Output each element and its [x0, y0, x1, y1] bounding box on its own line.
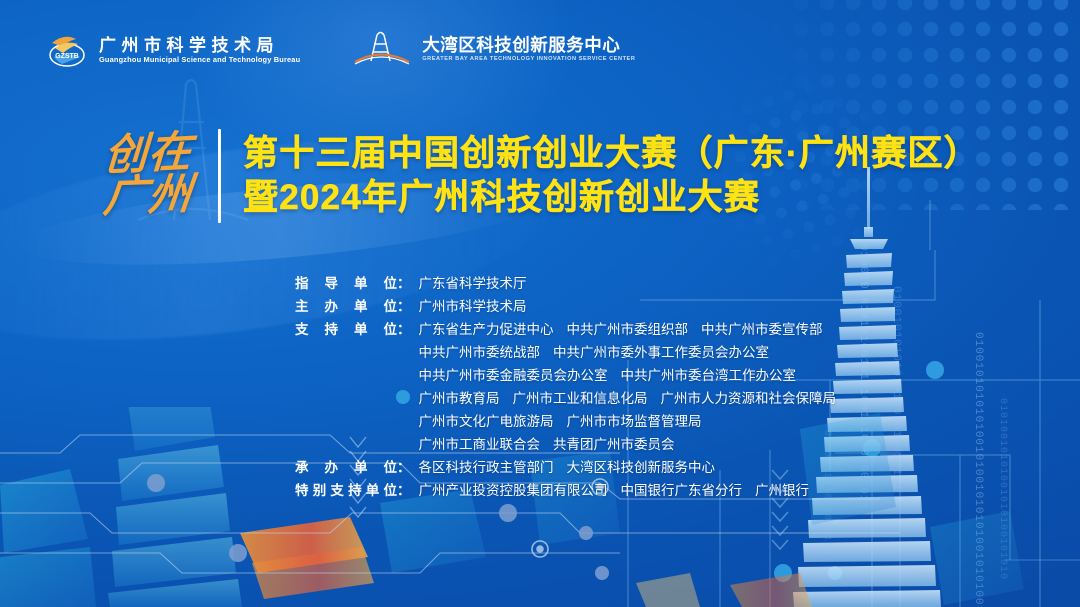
credit-row: 主办单位：广州市科学技术局 — [295, 295, 836, 318]
credit-org: 广州市科学技术局 — [419, 299, 527, 314]
binary-string-4: 01010010101001010100101010 — [997, 398, 1008, 580]
credit-values: 广东省生产力促进中心中共广州市委组织部中共广州市委宣传部中共广州市委统战部中共广… — [419, 318, 837, 456]
gzst-bureau-emblem-icon: GZSTB — [46, 31, 88, 69]
credit-colon: ： — [397, 295, 411, 318]
binary-string-3: 0100101010101001010010101010010101001010 — [972, 332, 984, 607]
credit-org: 广州产业投资控股集团有限公司 — [419, 483, 608, 498]
credit-value-line: 广州市文化广电旅游局广州市市场监督管理局 — [419, 410, 837, 433]
credit-colon: ： — [397, 272, 411, 295]
title-block: 创在 广州 第十三届中国创新创业大赛（广东·广州赛区） 暨2024年广州科技创新… — [96, 118, 980, 234]
credit-value-line: 广州市科学技术局 — [419, 295, 527, 318]
credit-value-line: 各区科技行政主管部门大湾区科技创新服务中心 — [419, 456, 716, 479]
svg-text:GZSTB: GZSTB — [55, 53, 79, 60]
credits-block: 指导单位：广东省科学技术厅主办单位：广州市科学技术局支持单位：广东省生产力促进中… — [295, 272, 836, 502]
credit-org: 广州市工商业联合会 — [419, 437, 541, 452]
credit-label: 特别支持单位 — [295, 479, 397, 502]
calligraphy-seal-icon: 创在 广州 — [96, 118, 200, 234]
credit-org: 中国银行广东省分行 — [621, 483, 743, 498]
logo-gzstb-cn: 广州市科学技术局 — [99, 37, 300, 54]
credit-colon: ： — [397, 318, 411, 341]
credit-label: 主办单位 — [295, 295, 397, 318]
credit-label: 支持单位 — [295, 318, 397, 341]
poster-canvas: 01001010101010010101001010101001010 0100… — [0, 0, 1080, 607]
credit-org: 广州市文化广电旅游局 — [419, 414, 554, 429]
logo-gbatisc: 大湾区科技创新服务中心 GREATER BAY AREA TECHNOLOGY … — [353, 31, 635, 69]
logo-gzstb: GZSTB 广州市科学技术局 Guangzhou Municipal Scien… — [46, 31, 300, 69]
logo-separator — [326, 30, 327, 70]
seal-line-2: 广州 — [102, 175, 195, 218]
credit-org: 广东省科学技术厅 — [419, 276, 527, 291]
credit-values: 广州产业投资控股集团有限公司中国银行广东省分行广州银行 — [419, 479, 810, 502]
credit-value-line: 广东省生产力促进中心中共广州市委组织部中共广州市委宣传部 — [419, 318, 837, 341]
credit-org: 中共广州市委宣传部 — [701, 322, 823, 337]
credit-org: 广州市人力资源和社会保障局 — [661, 391, 837, 406]
title-line-2: 暨2024年广州科技创新创业大赛 — [243, 180, 980, 216]
credit-org: 中共广州市委外事工作委员会办公室 — [553, 345, 769, 360]
credit-row: 支持单位：广东省生产力促进中心中共广州市委组织部中共广州市委宣传部中共广州市委统… — [295, 318, 836, 456]
credit-colon: ： — [397, 456, 411, 479]
logo-gzstb-en: Guangzhou Municipal Science and Technolo… — [99, 56, 300, 63]
bridge-emblem-icon — [353, 31, 411, 69]
credit-org: 中共广州市委统战部 — [419, 345, 541, 360]
credit-org: 广东省生产力促进中心 — [419, 322, 554, 337]
credit-values: 各区科技行政主管部门大湾区科技创新服务中心 — [419, 456, 716, 479]
credit-value-line: 中共广州市委统战部中共广州市委外事工作委员会办公室 — [419, 341, 837, 364]
credit-value-line: 广州产业投资控股集团有限公司中国银行广东省分行广州银行 — [419, 479, 810, 502]
credit-row: 特别支持单位：广州产业投资控股集团有限公司中国银行广东省分行广州银行 — [295, 479, 836, 502]
credit-row: 指导单位：广东省科学技术厅 — [295, 272, 836, 295]
credit-org: 中共广州市委组织部 — [567, 322, 689, 337]
credit-org: 大湾区科技创新服务中心 — [567, 460, 716, 475]
credit-org: 广州市市场监督管理局 — [567, 414, 702, 429]
logo-gbatisc-cn: 大湾区科技创新服务中心 — [422, 37, 635, 55]
credit-value-line: 广东省科学技术厅 — [419, 272, 527, 295]
credit-row: 承办单位：各区科技行政主管部门大湾区科技创新服务中心 — [295, 456, 836, 479]
credit-values: 广州市科学技术局 — [419, 295, 527, 318]
credit-value-line: 广州市教育局广州市工业和信息化局广州市人力资源和社会保障局 — [419, 387, 837, 410]
title-divider — [218, 129, 221, 223]
binary-string-2: 010010101010101001010010101 — [890, 286, 902, 491]
credit-org: 中共广州市委台湾工作办公室 — [621, 368, 797, 383]
credit-label: 指导单位 — [295, 272, 397, 295]
credit-label: 承办单位 — [295, 456, 397, 479]
credit-value-line: 中共广州市委金融委员会办公室中共广州市委台湾工作办公室 — [419, 364, 837, 387]
header-logos: GZSTB 广州市科学技术局 Guangzhou Municipal Scien… — [46, 30, 635, 70]
credit-org: 广州银行 — [755, 483, 809, 498]
credit-org: 广州市工业和信息化局 — [513, 391, 648, 406]
credit-org: 中共广州市委金融委员会办公室 — [419, 368, 608, 383]
credit-org: 各区科技行政主管部门 — [419, 460, 554, 475]
logo-gbatisc-en: GREATER BAY AREA TECHNOLOGY INNOVATION S… — [422, 57, 635, 63]
credit-colon: ： — [397, 479, 411, 502]
title-line-1: 第十三届中国创新创业大赛（广东·广州赛区） — [243, 136, 980, 172]
credit-org: 共青团广州市委员会 — [553, 437, 675, 452]
binary-string-1: 01001010101010010101001010101001010 — [857, 244, 869, 510]
title-lines: 第十三届中国创新创业大赛（广东·广州赛区） 暨2024年广州科技创新创业大赛 — [243, 136, 980, 217]
credit-values: 广东省科学技术厅 — [419, 272, 527, 295]
credit-value-line: 广州市工商业联合会共青团广州市委员会 — [419, 433, 837, 456]
credit-org: 广州市教育局 — [419, 391, 500, 406]
